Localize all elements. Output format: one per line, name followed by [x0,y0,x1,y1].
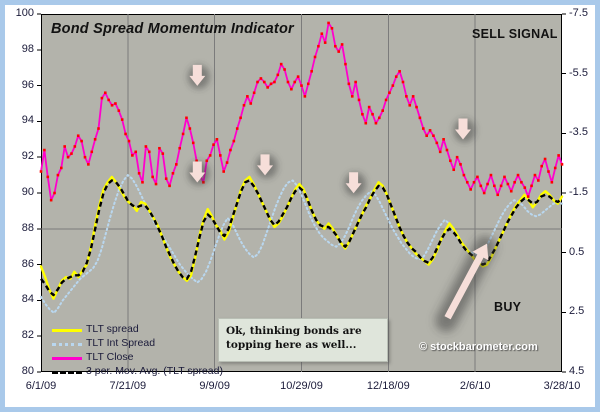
data-point-marker [178,147,181,150]
data-point-marker [307,83,310,86]
data-point-marker [192,142,195,145]
chart-frame: Bond Spread Momentum Indicator SELL SIGN… [0,0,600,412]
data-point-marker [182,133,185,136]
data-point-marker [402,81,405,84]
data-point-marker [466,181,469,184]
data-point-marker [476,176,479,179]
data-point-marker [165,177,168,180]
data-point-marker [544,158,547,161]
data-point-marker [266,86,269,89]
data-point-marker [168,185,171,188]
data-point-marker [327,22,330,25]
data-point-marker [304,95,307,98]
x-axis-tick: 6/1/09 [1,380,81,392]
data-point-marker [104,91,107,94]
data-point-marker [456,156,459,159]
data-point-marker [70,152,73,155]
x-axis-tick: 12/18/09 [348,380,428,392]
data-point-marker [446,149,449,152]
data-point-marker [124,133,127,136]
data-point-marker [293,81,296,84]
y-axis-right-tick: -1.5 [569,186,588,198]
y-axis-right-tick: -5.5 [569,67,588,79]
data-point-marker [290,88,293,91]
data-point-marker [151,176,154,179]
data-point-marker [436,142,439,145]
data-point-marker [425,134,428,137]
legend-item-tlt-int-spread: TLT Int Spread [52,337,232,351]
y-axis-left-tick: 82 [5,329,34,341]
data-point-marker [442,138,445,141]
y-axis-left-tick: 86 [5,258,34,270]
data-point-marker [121,118,124,121]
data-point-marker [381,109,384,112]
data-point-marker [277,74,280,77]
data-point-marker [361,113,364,116]
data-point-marker [161,152,164,155]
data-point-marker [523,186,526,189]
line-swatch-blue-dotted-icon [52,343,82,346]
data-point-marker [310,70,313,73]
data-point-marker [510,190,513,193]
annotation-sell-arrow-3 [256,154,278,178]
data-point-marker [351,95,354,98]
data-point-marker [432,134,435,137]
data-point-marker [534,174,537,177]
data-point-marker [490,174,493,177]
y-axis-left-tick: 98 [5,43,34,55]
watermark: © stockbarometer.com [419,341,538,353]
data-point-marker [392,84,395,87]
y-axis-left-tick: 92 [5,150,34,162]
data-point-marker [172,172,175,175]
annotation-sell-arrow-1 [188,65,210,89]
data-point-marker [520,181,523,184]
y-axis-left-tick: 94 [5,114,34,126]
data-point-marker [63,145,66,148]
data-point-marker [107,99,110,102]
data-point-marker [283,68,286,71]
data-point-marker [189,127,192,130]
data-point-marker [408,104,411,107]
data-point-marker [236,127,239,130]
data-point-marker [507,183,510,186]
data-point-marker [547,170,550,173]
data-point-marker [77,134,80,137]
y-axis-right-tick: 4.5 [569,365,584,377]
data-point-marker [513,181,516,184]
legend-label: TLT Int Spread [86,337,155,349]
line-swatch-black-dashed-icon [52,371,82,374]
data-point-marker [527,195,530,198]
data-point-marker [280,63,283,66]
data-point-marker [385,99,388,102]
x-axis-tick: 9/9/09 [175,380,255,392]
y-axis-left-tick: 84 [5,293,34,305]
data-point-marker [317,45,320,48]
data-point-marker [260,77,263,80]
data-point-marker [229,149,232,152]
x-axis-tick: 10/29/09 [262,380,342,392]
x-axis-tick: 3/28/10 [522,380,600,392]
data-point-marker [314,56,317,59]
legend-label: 3 per. Mov. Avg. (TLT spread) [86,365,223,377]
data-point-marker [131,154,134,157]
legend-item-moving-average: 3 per. Mov. Avg. (TLT spread) [52,365,232,379]
data-point-marker [469,188,472,191]
data-point-marker [388,91,391,94]
data-point-marker [148,151,151,154]
data-point-marker [94,138,97,141]
data-point-marker [537,179,540,182]
data-point-marker [233,140,236,143]
data-point-marker [128,140,131,143]
data-point-marker [530,185,533,188]
annotation-sell-arrow-5 [454,119,476,143]
data-point-marker [422,127,425,130]
data-point-marker [341,43,344,46]
data-point-marker [419,117,422,120]
x-axis-tick: 7/21/09 [88,380,168,392]
y-axis-right-tick: 0.5 [569,246,584,258]
y-axis-left-tick: 96 [5,79,34,91]
data-point-marker [256,81,259,84]
data-point-marker [554,167,557,170]
data-point-marker [273,81,276,84]
data-point-marker [84,156,87,159]
data-point-marker [459,163,462,166]
data-point-marker [53,192,56,195]
data-point-marker [226,161,229,164]
y-axis-right-tick: -7.5 [569,7,588,19]
data-point-marker [209,154,212,157]
data-point-marker [493,185,496,188]
callout-line-2: topping here as well... [226,339,356,351]
buy-signal-label: BUY [494,300,521,314]
data-point-marker [344,63,347,66]
data-point-marker [368,106,371,109]
data-point-marker [270,83,273,86]
data-point-marker [263,81,266,84]
y-axis-left-tick: 100 [5,7,34,19]
x-axis-tick: 2/6/10 [435,380,515,392]
data-point-marker [74,145,77,148]
data-point-marker [503,176,506,179]
callout-box: Ok, thinking bonds are topping here as w… [218,318,388,362]
y-axis-right-tick: 2.5 [569,305,584,317]
data-point-marker [321,32,324,35]
data-point-marker [118,109,121,112]
data-point-marker [551,181,554,184]
data-point-marker [480,185,483,188]
legend-label: TLT Close [86,351,133,363]
callout-line-1: Ok, thinking bonds are [226,325,362,337]
data-point-marker [141,181,144,184]
data-point-marker [358,99,361,102]
data-point-marker [212,143,215,146]
data-point-marker [463,174,466,177]
data-point-marker [378,117,381,120]
data-point-marker [473,181,476,184]
data-point-marker [354,81,357,84]
data-point-marker [486,183,489,186]
data-point-marker [375,122,378,125]
data-point-marker [243,104,246,107]
annotation-sell-arrow-2 [188,162,210,186]
data-point-marker [452,168,455,171]
chart-canvas: Bond Spread Momentum Indicator SELL SIGN… [5,5,595,407]
data-point-marker [216,138,219,141]
data-point-marker [158,147,161,150]
data-point-marker [90,151,93,154]
data-point-marker [439,151,442,154]
data-point-marker [246,95,249,98]
data-point-marker [67,156,70,159]
data-point-marker [57,174,60,177]
data-point-marker [337,50,340,53]
data-point-marker [415,106,418,109]
data-point-marker [561,163,564,166]
data-point-marker [517,174,520,177]
data-point-marker [46,176,49,179]
data-point-marker [331,27,334,30]
data-point-marker [155,183,158,186]
data-point-marker [412,95,415,98]
data-point-marker [114,102,117,105]
y-axis-right-tick: -3.5 [569,126,588,138]
data-point-marker [80,140,83,143]
data-point-marker [496,193,499,196]
data-point-marker [557,154,560,157]
data-point-marker [219,154,222,157]
data-point-marker [371,113,374,116]
data-point-marker [297,75,300,78]
data-point-marker [101,97,104,100]
data-point-marker [483,192,486,195]
chart-title: Bond Spread Momentum Indicator [51,21,294,37]
legend-label: TLT spread [86,323,139,335]
data-point-marker [449,159,452,162]
data-point-marker [111,104,114,107]
data-point-marker [253,91,256,94]
data-point-marker [249,102,252,105]
data-point-marker [429,129,432,132]
data-point-marker [97,127,100,130]
data-point-marker [185,117,188,120]
data-point-marker [334,45,337,48]
sell-signal-label: SELL SIGNAL [472,27,558,41]
y-axis-left-tick: 88 [5,222,34,234]
data-point-marker [364,122,367,125]
legend-item-tlt-close: TLT Close [52,351,232,365]
data-point-marker [205,159,208,162]
data-point-marker [395,75,398,78]
data-point-marker [40,170,43,173]
data-point-marker [60,167,63,170]
y-axis-left-tick: 80 [5,365,34,377]
data-point-marker [145,145,148,148]
line-swatch-magenta-icon [52,357,82,360]
chart-legend: TLT spread TLT Int Spread TLT Close 3 pe… [52,323,232,379]
data-point-marker [500,185,503,188]
annotation-sell-arrow-4 [344,172,366,196]
data-point-marker [134,151,137,154]
data-point-marker [348,83,351,86]
data-point-marker [300,84,303,87]
data-point-marker [138,172,141,175]
data-point-marker [239,117,242,120]
data-point-marker [87,163,90,166]
data-point-marker [405,95,408,98]
data-point-marker [287,81,290,84]
legend-item-tlt-spread: TLT spread [52,323,232,337]
data-point-marker [222,170,225,173]
callout-text: Ok, thinking bonds are topping here as w… [226,324,383,352]
data-point-marker [43,149,46,152]
y-axis-left-tick: 90 [5,186,34,198]
data-point-marker [324,41,327,44]
data-point-marker [50,199,53,202]
data-point-marker [398,70,401,73]
data-point-marker [540,165,543,168]
data-point-marker [175,163,178,166]
line-swatch-yellow-icon [52,329,82,332]
